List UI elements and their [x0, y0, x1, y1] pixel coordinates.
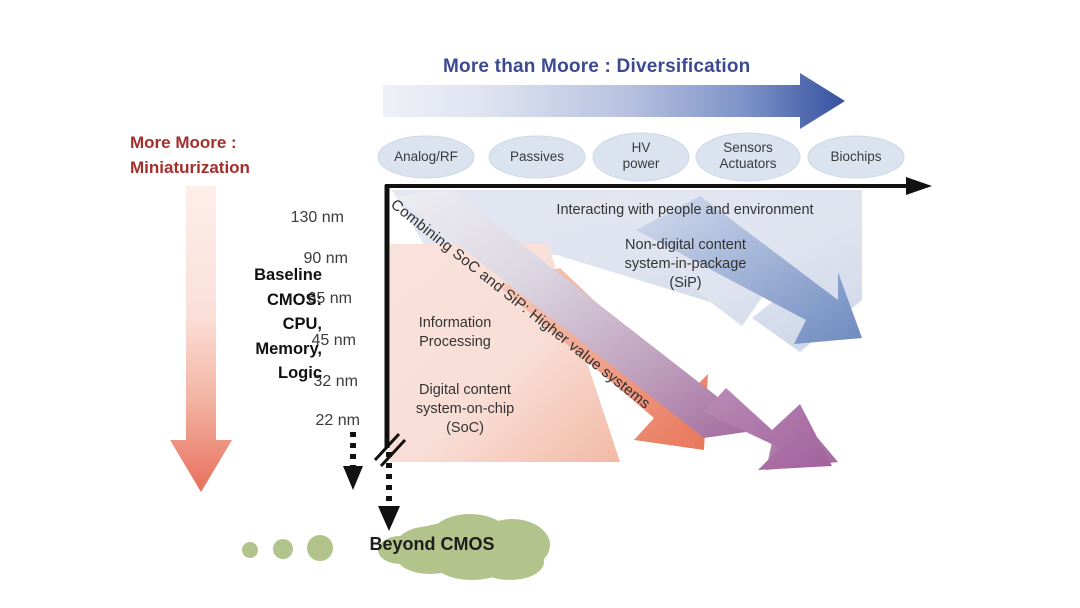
interacting-label: Interacting with people and environment [520, 201, 850, 220]
pill-label-passives[interactable]: Passives [489, 149, 585, 165]
baseline-line-3: Memory, [196, 337, 322, 362]
information-processing-label: Information Processing [385, 314, 525, 352]
soc-line3: (SoC) [385, 419, 545, 438]
pill-label-sensors-actuators[interactable]: Sensors Actuators [696, 140, 800, 172]
sip-label: Non-digital content system-in-package (S… [578, 236, 793, 293]
sip-line1: Non-digital content [578, 236, 793, 255]
pill-label-biochips[interactable]: Biochips [808, 149, 904, 165]
pill-label-hv-power[interactable]: HV power [593, 140, 689, 172]
sensors-line2: Actuators [696, 156, 800, 172]
sensors-line1: Sensors [696, 140, 800, 156]
dotted-down-arrow-left [343, 432, 363, 490]
sip-line2: system-in-package [578, 255, 793, 274]
baseline-line-1: CMOS: [196, 288, 322, 313]
soc-line1: Digital content [385, 381, 545, 400]
info-line1: Information [385, 314, 525, 333]
sip-line3: (SiP) [578, 274, 793, 293]
baseline-line-2: CPU, [196, 312, 322, 337]
baseline-line-0: Baseline [196, 263, 322, 288]
soc-label: Digital content system-on-chip (SoC) [385, 381, 545, 438]
hv-power-line1: HV [593, 140, 689, 156]
baseline-cmos-block: Baseline CMOS: CPU, Memory, Logic [196, 263, 322, 386]
more-than-moore-arrow [383, 73, 845, 129]
nm-label-22: 22 nm [256, 412, 360, 430]
beyond-cmos-label: Beyond CMOS [352, 534, 512, 555]
info-line2: Processing [385, 333, 525, 352]
nm-label-130: 130 nm [240, 209, 344, 227]
more-than-moore-title: More than Moore : Diversification [443, 56, 783, 78]
diagram-graphics [0, 0, 1080, 608]
more-moore-title-line1: More Moore : [130, 130, 320, 155]
soc-line2: system-on-chip [385, 400, 545, 419]
baseline-line-4: Logic [196, 361, 322, 386]
hv-power-line2: power [593, 156, 689, 172]
more-moore-title: More Moore : Miniaturization [130, 130, 320, 180]
pill-label-analog-rf[interactable]: Analog/RF [378, 149, 474, 165]
more-moore-title-line2: Miniaturization [130, 155, 320, 180]
diagram-canvas: More than Moore : Diversification More M… [0, 0, 1080, 608]
